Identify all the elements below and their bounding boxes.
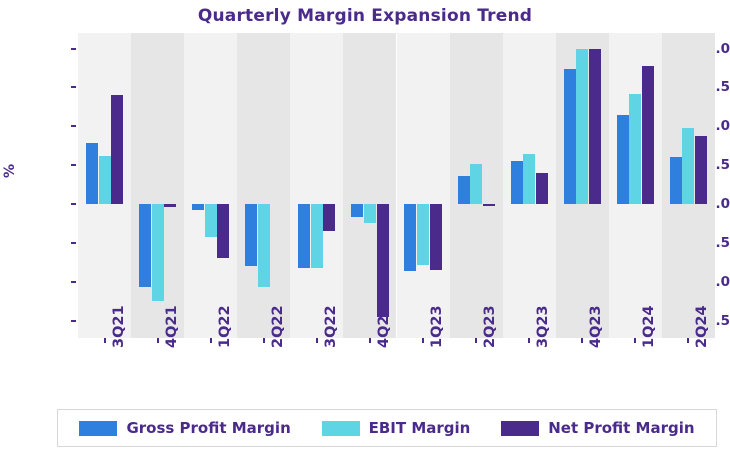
legend-label-net: Net Profit Margin <box>548 419 694 437</box>
bar-4q21-ebit[interactable] <box>152 204 164 300</box>
y-tick-mark <box>71 320 76 322</box>
x-tick-mark <box>528 338 530 343</box>
plot-area <box>78 33 715 338</box>
bar-1q23-net[interactable] <box>430 204 442 269</box>
x-tick-mark <box>157 338 159 343</box>
bar-1q22-net[interactable] <box>217 204 229 258</box>
x-tick-mark <box>422 338 424 343</box>
chart-legend: Gross Profit Margin EBIT Margin Net Prof… <box>57 409 717 447</box>
legend-item-gross-profit-margin[interactable]: Gross Profit Margin <box>79 419 290 437</box>
bar-3q22-net[interactable] <box>323 204 335 230</box>
bar-1q24-gross[interactable] <box>617 115 629 204</box>
bar-3q21-ebit[interactable] <box>99 156 111 204</box>
legend-swatch-icon-ebit <box>322 421 360 436</box>
chart-figure: Quarterly Margin Expansion Trend % 10.07… <box>0 0 730 455</box>
bar-4q23-ebit[interactable] <box>576 49 588 205</box>
bar-2q24-ebit[interactable] <box>682 128 694 204</box>
bar-2q24-gross[interactable] <box>670 157 682 204</box>
bar-1q22-gross[interactable] <box>192 204 204 209</box>
legend-swatch-icon-net <box>501 421 539 436</box>
x-tick-label-1q24: 1Q24 <box>641 305 657 348</box>
chart-title: Quarterly Margin Expansion Trend <box>0 6 730 26</box>
y-tick-mark <box>71 281 76 283</box>
x-tick-label-2q22: 2Q22 <box>270 305 286 348</box>
bar-4q22-gross[interactable] <box>351 204 363 217</box>
y-tick-mark <box>71 203 76 205</box>
x-tick-label-4q21: 4Q21 <box>164 305 180 348</box>
x-tick-mark <box>210 338 212 343</box>
y-tick-mark <box>71 242 76 244</box>
bar-1q23-gross[interactable] <box>404 204 416 271</box>
x-tick-label-2q24: 2Q24 <box>694 305 710 348</box>
y-tick-mark <box>71 86 76 88</box>
x-tick-label-1q22: 1Q22 <box>217 305 233 348</box>
y-tick-mark <box>71 125 76 127</box>
x-tick-label-4q23: 4Q23 <box>588 305 604 348</box>
x-tick-mark <box>475 338 477 343</box>
legend-label-ebit: EBIT Margin <box>369 419 471 437</box>
bar-4q21-net[interactable] <box>164 204 176 207</box>
legend-swatch-icon-gross <box>79 421 117 436</box>
bar-1q23-ebit[interactable] <box>417 204 429 265</box>
bar-3q23-gross[interactable] <box>511 161 523 204</box>
x-tick-mark <box>634 338 636 343</box>
x-tick-label-3q22: 3Q22 <box>323 305 339 348</box>
bar-1q24-net[interactable] <box>642 66 654 204</box>
x-tick-label-2q23: 2Q23 <box>482 305 498 348</box>
bar-1q22-ebit[interactable] <box>205 204 217 237</box>
bar-4q22-net[interactable] <box>377 204 389 317</box>
x-tick-label-4q22: 4Q22 <box>376 305 392 348</box>
bar-4q23-net[interactable] <box>589 49 601 205</box>
bars-layer <box>78 33 715 338</box>
bar-2q24-net[interactable] <box>695 136 707 204</box>
bar-4q21-gross[interactable] <box>139 204 151 286</box>
bar-3q21-gross[interactable] <box>86 143 98 204</box>
legend-item-net-profit-margin[interactable]: Net Profit Margin <box>501 419 694 437</box>
x-tick-label-3q23: 3Q23 <box>535 305 551 348</box>
x-tick-mark <box>104 338 106 343</box>
bar-4q23-gross[interactable] <box>564 69 576 204</box>
bar-2q23-ebit[interactable] <box>470 164 482 204</box>
y-tick-mark <box>71 164 76 166</box>
x-tick-mark <box>369 338 371 343</box>
y-axis-label: % <box>2 164 18 178</box>
x-tick-label-3q21: 3Q21 <box>111 305 127 348</box>
bar-2q22-gross[interactable] <box>245 204 257 266</box>
bar-2q22-ebit[interactable] <box>258 204 270 286</box>
legend-label-gross: Gross Profit Margin <box>126 419 290 437</box>
x-tick-mark <box>316 338 318 343</box>
bar-4q22-ebit[interactable] <box>364 204 376 223</box>
bar-3q21-net[interactable] <box>111 95 123 204</box>
legend-item-ebit-margin[interactable]: EBIT Margin <box>322 419 471 437</box>
x-tick-mark <box>687 338 689 343</box>
x-tick-label-1q23: 1Q23 <box>429 305 445 348</box>
bar-3q23-net[interactable] <box>536 173 548 204</box>
bar-2q23-net[interactable] <box>483 204 495 206</box>
bar-3q23-ebit[interactable] <box>523 154 535 204</box>
y-tick-mark <box>71 48 76 50</box>
bar-3q22-gross[interactable] <box>298 204 310 268</box>
x-tick-mark <box>263 338 265 343</box>
x-tick-mark <box>581 338 583 343</box>
bar-1q24-ebit[interactable] <box>629 94 641 204</box>
bar-3q22-ebit[interactable] <box>311 204 323 268</box>
bar-2q23-gross[interactable] <box>458 176 470 204</box>
